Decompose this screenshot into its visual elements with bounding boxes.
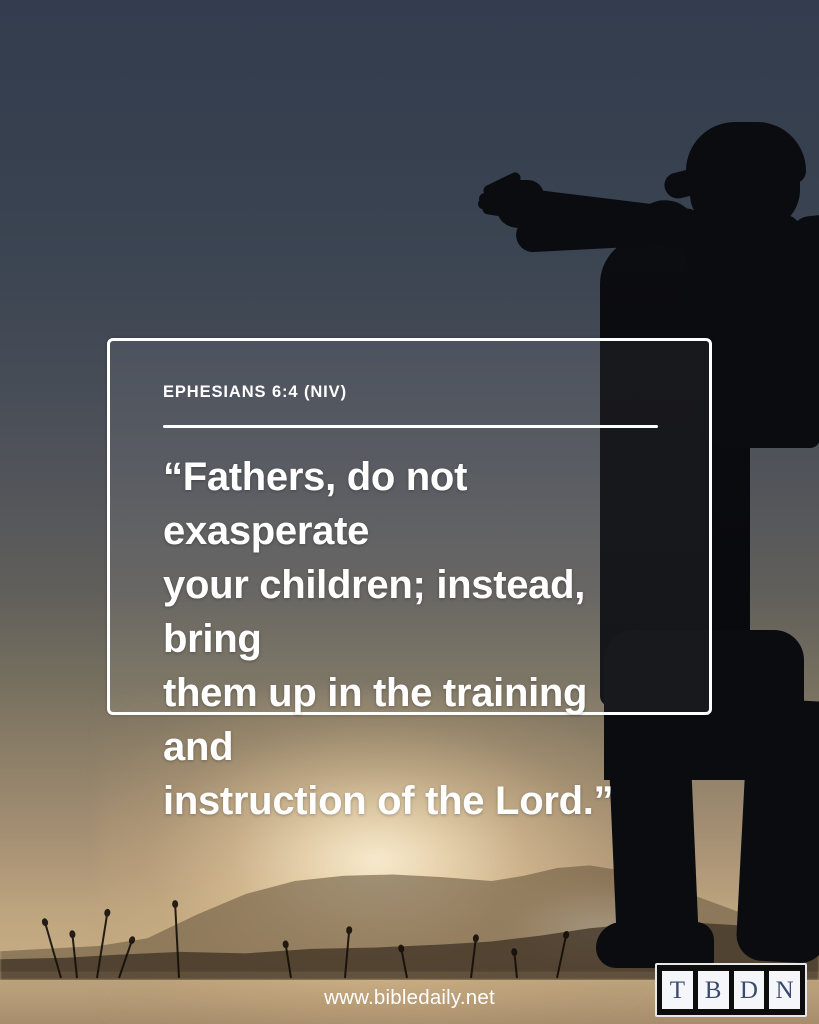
card-divider [163,425,658,428]
tbdn-logo[interactable]: T B D N [655,963,807,1017]
logo-letter-d: D [734,971,765,1009]
logo-letter-n: N [769,971,800,1009]
verse-card: EPHESIANS 6:4 (NIV) “Fathers, do not exa… [107,338,712,715]
logo-letter-b: B [698,971,729,1009]
verse-quote-text: “Fathers, do not exasperate your childre… [163,450,657,828]
bible-verse-poster: EPHESIANS 6:4 (NIV) “Fathers, do not exa… [0,0,819,1024]
verse-reference: EPHESIANS 6:4 (NIV) [163,383,657,402]
verse-card-content: EPHESIANS 6:4 (NIV) “Fathers, do not exa… [110,341,709,828]
logo-letter-t: T [662,971,693,1009]
